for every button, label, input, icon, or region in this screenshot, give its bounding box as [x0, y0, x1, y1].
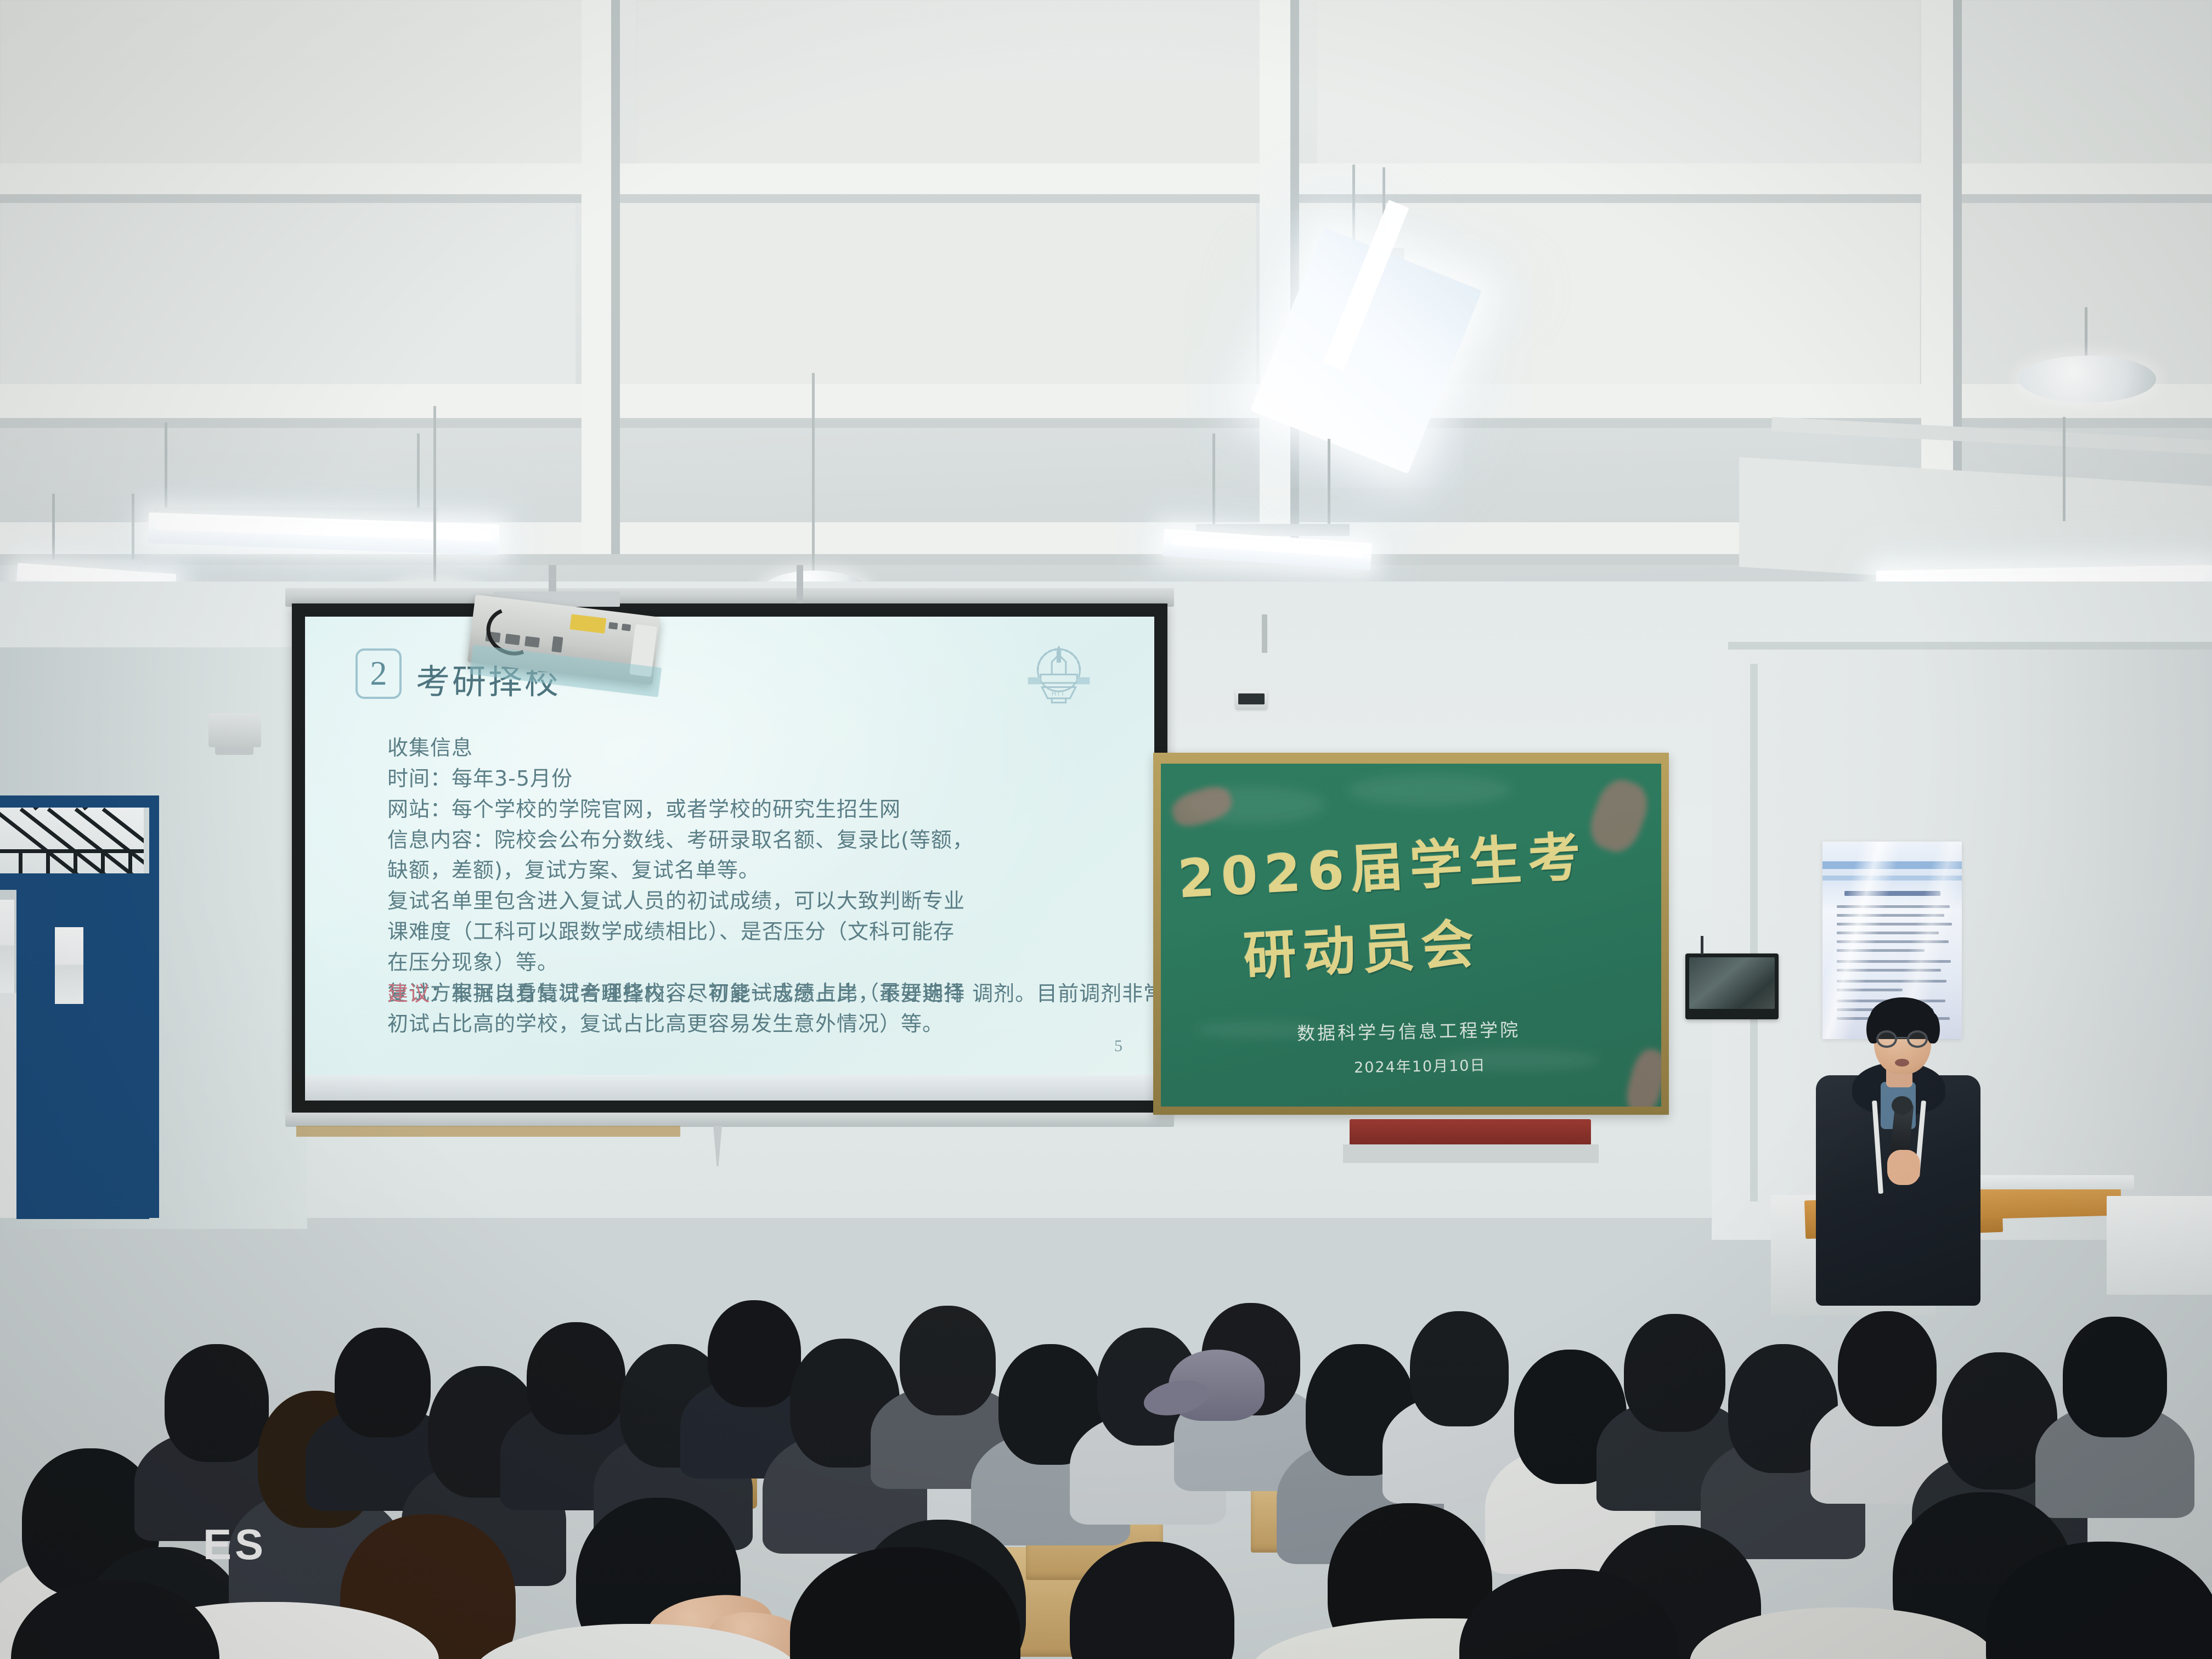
wall-speaker	[208, 713, 261, 747]
audience-head	[335, 1328, 431, 1437]
audience: ES	[0, 1163, 2212, 1659]
advice-label: 建议	[387, 981, 430, 1006]
wall-sensor-device	[1235, 690, 1267, 709]
slide-line: 在压分现象）等。	[387, 947, 974, 978]
advice-line-1: ：根据自身情况合理择校，尽可能一志愿上岸，不要期待	[430, 981, 965, 1006]
audience-head	[708, 1300, 801, 1407]
ceiling-mount-pole	[797, 565, 803, 603]
chalk-tray	[1350, 1119, 1591, 1145]
slide-line: 信息内容：院校会公布分数线、考研录取名额、复录比(等额，	[387, 825, 974, 856]
ceiling-rib-shadow	[611, 0, 620, 554]
presenter-mouth	[1895, 1059, 1909, 1066]
slide-page-number: 5	[1114, 1037, 1122, 1056]
wall-seam	[1750, 664, 1758, 1201]
wall-speaker-base	[215, 747, 253, 755]
audience-head	[165, 1344, 269, 1462]
wall-conduit	[1262, 614, 1267, 653]
chalk-tray-shelf	[1343, 1144, 1599, 1163]
slide-advice-first-line: 建议：根据自身情况合理择校，尽可能一志愿上岸，不要期待	[387, 981, 965, 1006]
audience-head	[1410, 1311, 1509, 1426]
chalk-ledge	[296, 1126, 680, 1137]
screen-roller-bottom	[285, 1113, 1174, 1127]
ceiling-coffer	[636, 0, 1284, 165]
ceiling-rib	[1260, 0, 1290, 554]
audience-head	[2063, 1317, 2167, 1437]
projector-warning-label	[569, 614, 606, 634]
projection-screen: 2 考研择校 HIT 收集信息	[305, 617, 1154, 1101]
monitor-antenna	[1701, 936, 1703, 955]
hit-university-crest-icon: HIT	[1024, 641, 1094, 711]
ceiling-coffer	[1317, 0, 1920, 165]
microphone-head	[1892, 1096, 1912, 1115]
door-window	[49, 922, 89, 1009]
presenter-sideburn	[1927, 1013, 1940, 1043]
wall-display-monitor	[1685, 953, 1779, 1019]
tshirt-text: ES	[203, 1520, 267, 1570]
presenter-glasses-bridge	[1897, 1037, 1907, 1039]
screen-bottom-strip	[305, 1075, 1154, 1101]
slide-line: 课难度（工科可以跟数学成绩相比）、是否压分（文科可能存	[387, 917, 974, 947]
ceiling-coffer	[0, 0, 603, 165]
blackboard-department: 数据科学与信息工程学院	[1297, 1015, 1521, 1045]
door-side-glass	[0, 900, 14, 993]
ceiling-coffer	[1953, 0, 2212, 165]
slide-line: 收集信息	[387, 733, 974, 764]
door-lintel	[0, 873, 149, 890]
blackboard-date: 2024年10月10日	[1354, 1053, 1486, 1077]
door-transom-window	[0, 808, 144, 873]
door-header	[0, 795, 149, 808]
slide-line: 网站：每个学校的学院官网，或者学校的研究生招生网	[387, 794, 974, 825]
audience-head	[1838, 1311, 1937, 1426]
audience-head	[900, 1306, 996, 1415]
audience-head	[1624, 1314, 1725, 1432]
presenter-glasses-right-lens	[1907, 1030, 1928, 1048]
ceiling-beam-shadow	[0, 194, 2212, 203]
ceiling-rib-shadow	[1290, 0, 1299, 554]
slide-advice-block: 建议：根据自身情况合理择校，尽可能一志愿上岸，不要期待 调剂。目前调剂非常卷。	[387, 979, 1154, 1009]
ceiling-beam	[0, 163, 2212, 194]
classroom-photo-scene: 2 考研择校 HIT 收集信息	[0, 0, 2212, 1659]
audience-head	[527, 1322, 625, 1435]
slide-line: 时间：每年3-5月份	[387, 764, 974, 794]
blackboard-headline-line1: 2026届学生考	[1176, 814, 1589, 912]
slide-line: 缺额，差额)，复试方案、复试名单等。	[387, 855, 974, 886]
blackboard: 2026届学生考 研动员会 数据科学与信息工程学院 2024年10月10日	[1161, 764, 1661, 1107]
ceiling-coffer	[0, 192, 576, 390]
ceiling-coffer	[609, 181, 1256, 395]
ceiling-beam	[0, 384, 2212, 418]
blackboard-headline-line2: 研动员会	[1241, 901, 1482, 990]
advice-line-2: 调剂。目前调剂非常卷。	[972, 981, 1154, 1006]
slide-line: 复试名单里包含进入复试人员的初试成绩，可以大致判断专业	[387, 886, 974, 917]
door-side-frame	[149, 795, 159, 1218]
hit-logo-text: HIT	[1052, 691, 1066, 697]
ceiling-rib	[582, 0, 611, 554]
slide-line: 初试占比高的学校，复试占比高更容易发生意外情况）等。	[387, 1009, 974, 1040]
slide-number-badge: 2	[356, 648, 402, 699]
wall-cornice	[1728, 642, 2212, 650]
presenter-glasses-left-lens	[1876, 1030, 1897, 1048]
